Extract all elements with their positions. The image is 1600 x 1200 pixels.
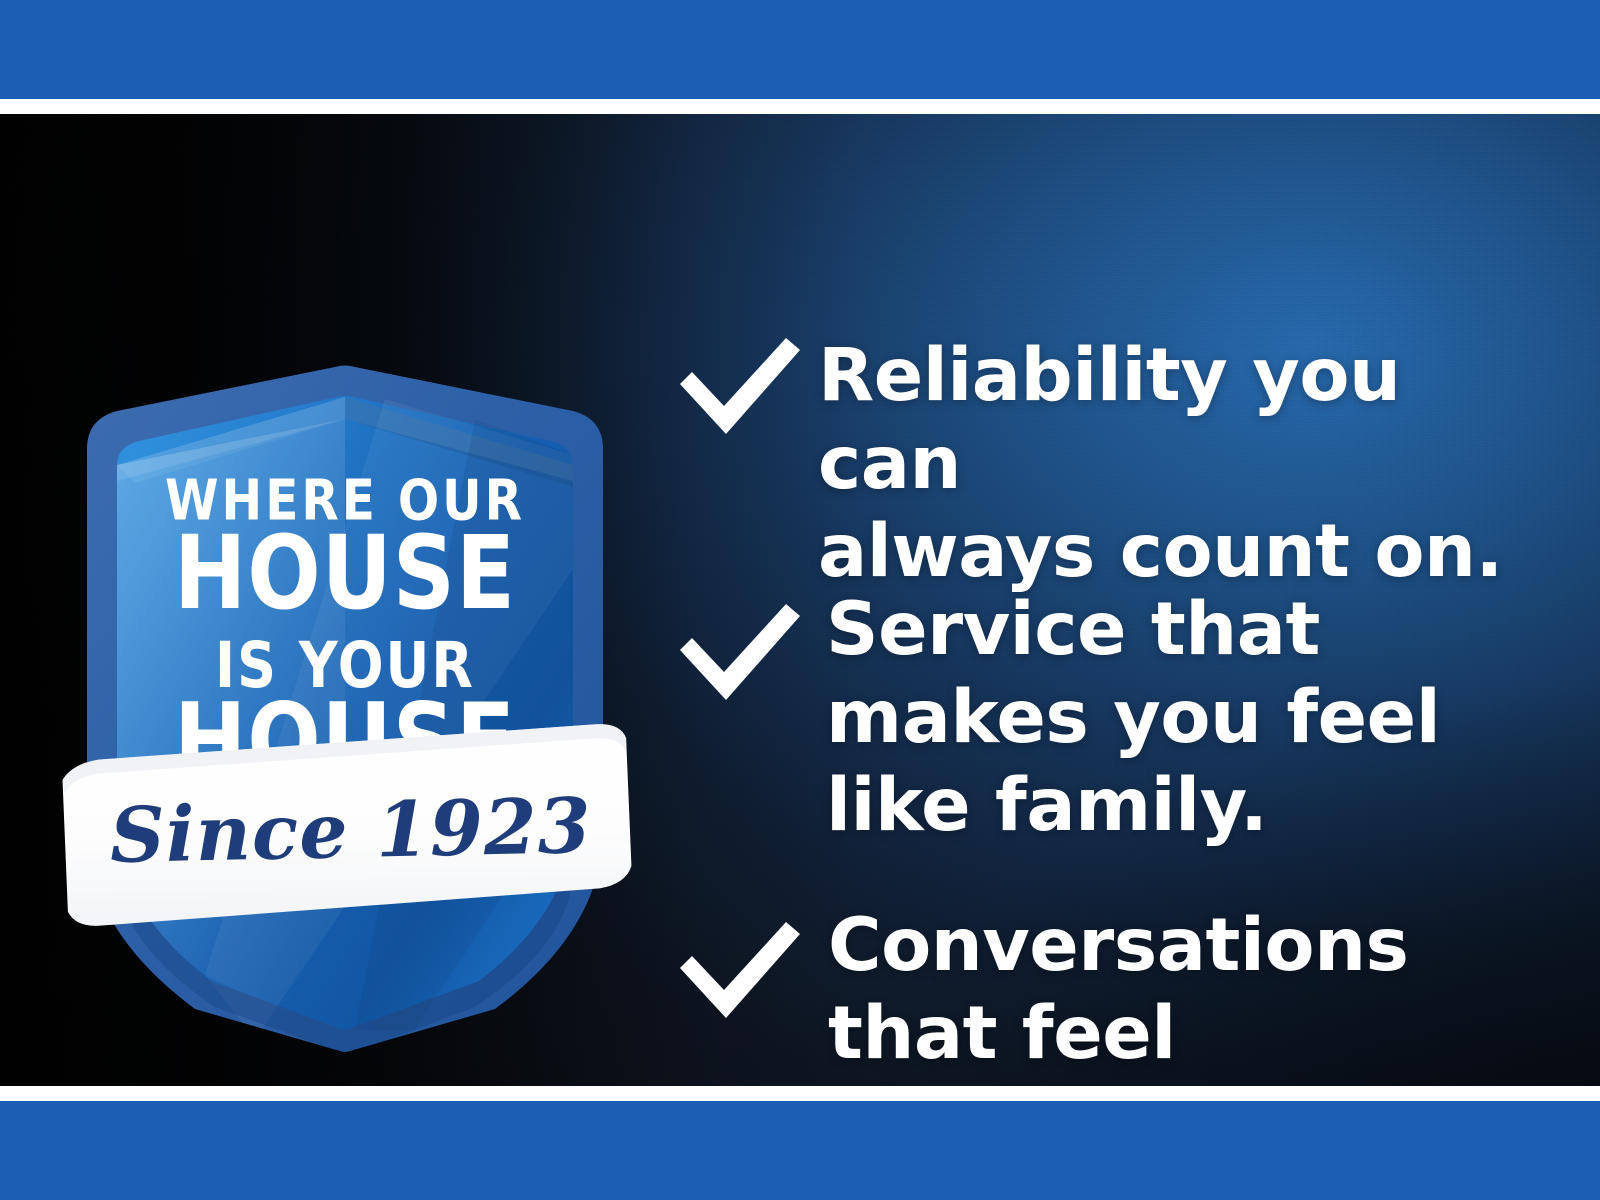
- checklist-item-text: Service that makes you feel like family.: [826, 586, 1440, 850]
- checklist-item-text: Conversations that feel like home.: [828, 902, 1409, 1086]
- checklist-item-service: Service that makes you feel like family.: [668, 586, 1440, 850]
- checklist-item-text: Reliability you can always count on.: [818, 332, 1548, 596]
- ribbon-text: Since 1923: [109, 781, 592, 880]
- promo-graphic: WHERE OUR HOUSE IS YOUR HOUSE Since 1923: [0, 0, 1600, 1200]
- top-white-rule: [0, 99, 1600, 114]
- checkmark-icon: [668, 598, 808, 710]
- main-panel: WHERE OUR HOUSE IS YOUR HOUSE Since 1923: [0, 114, 1600, 1086]
- shield-badge: WHERE OUR HOUSE IS YOUR HOUSE Since 1923: [55, 269, 635, 1079]
- checklist-item-conversations: Conversations that feel like home.: [668, 902, 1409, 1086]
- checkmark-icon: [668, 916, 808, 1028]
- checklist-item-reliability: Reliability you can always count on.: [668, 332, 1548, 596]
- bottom-white-rule: [0, 1086, 1600, 1101]
- checkmark-icon: [668, 332, 808, 444]
- bottom-brand-bar: [0, 1101, 1600, 1200]
- benefits-checklist: Reliability you can always count on. Ser…: [668, 314, 1548, 1086]
- badge-line-2: HOUSE: [174, 515, 516, 633]
- top-brand-bar: [0, 0, 1600, 99]
